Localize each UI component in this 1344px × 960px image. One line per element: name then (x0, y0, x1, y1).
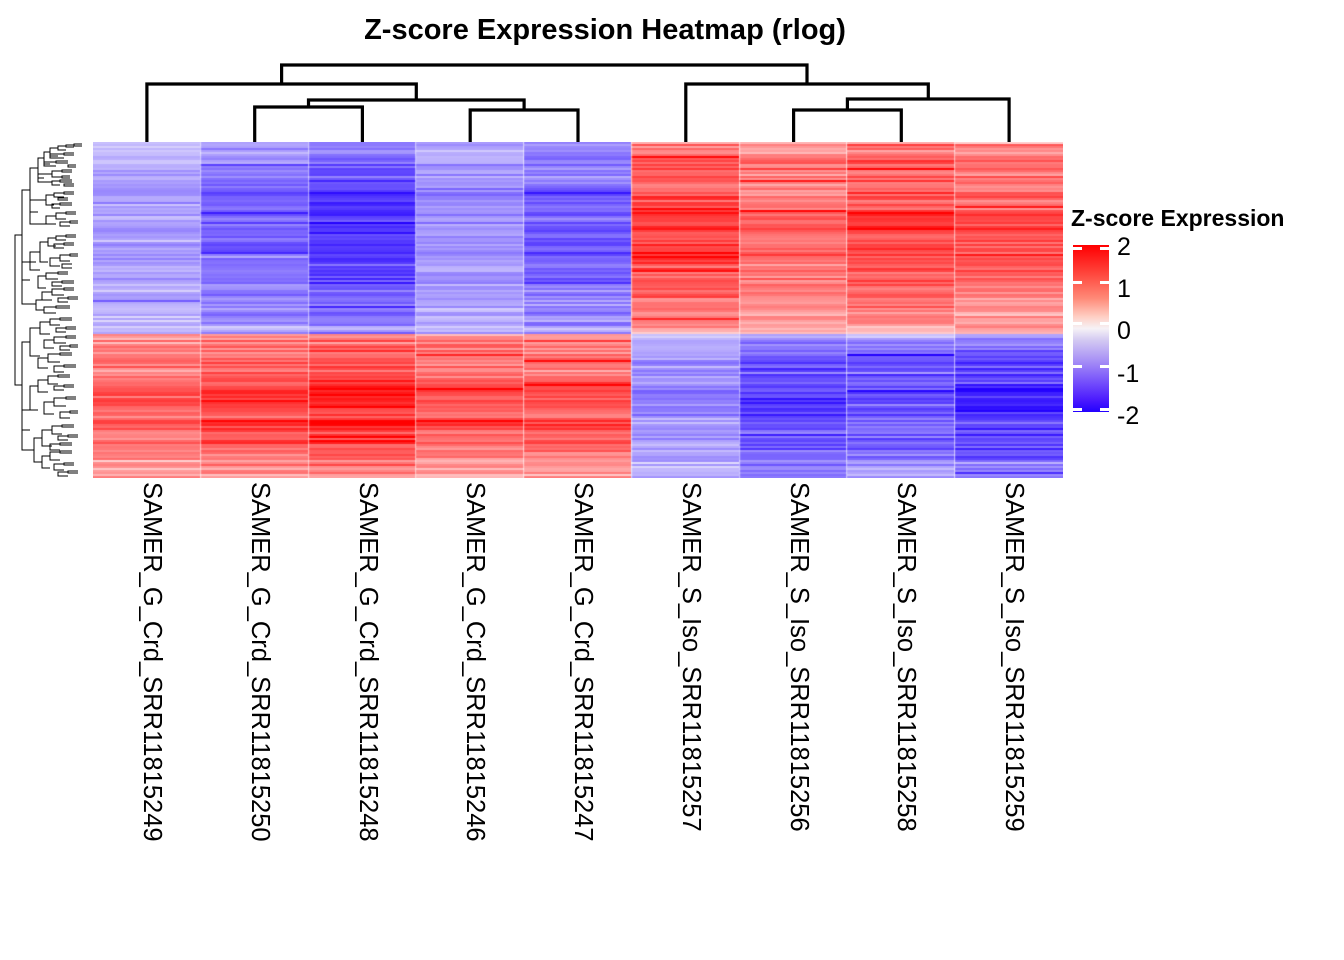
colorbar-tick-mark (1073, 322, 1082, 325)
heatmap-body (93, 142, 1063, 478)
colorbar-gradient (1073, 245, 1109, 412)
column-label-4: SAMER_G_Crd_SRR11815246 (462, 482, 488, 818)
column-label-2: SAMER_G_Crd_SRR11815250 (247, 482, 273, 818)
colorbar-tick-mark (1100, 365, 1109, 368)
row-dendrogram (14, 142, 92, 478)
column-label-7: SAMER_S_Iso_SRR11815256 (786, 482, 812, 818)
colorbar-tick-mark (1073, 408, 1082, 411)
heatmap-canvas (93, 142, 1063, 478)
colorbar-label-m2: -2 (1117, 404, 1139, 429)
colorbar-tick-mark (1073, 281, 1082, 284)
colorbar-tick-mark (1100, 281, 1109, 284)
colorbar-tick-mark (1073, 365, 1082, 368)
heatmap-figure: Z-score Expression Heatmap (rlog) (0, 0, 1344, 960)
colorbar-label-0: 0 (1117, 319, 1131, 344)
colorbar-tick-mark (1100, 408, 1109, 411)
column-label-6: SAMER_S_Iso_SRR11815257 (678, 482, 704, 818)
page-title: Z-score Expression Heatmap (rlog) (0, 14, 1210, 47)
column-label-9: SAMER_S_Iso_SRR11815259 (1001, 482, 1027, 818)
colorbar-tick-mark (1100, 322, 1109, 325)
legend-title: Z-score Expression (1071, 205, 1284, 232)
column-labels: SAMER_G_Crd_SRR11815249 SAMER_G_Crd_SRR1… (93, 482, 1063, 952)
colorbar-tick-mark (1100, 247, 1109, 250)
colorbar-label-2: 2 (1117, 235, 1131, 260)
column-label-5: SAMER_G_Crd_SRR11815247 (570, 482, 596, 818)
colorbar-label-m1: -1 (1117, 362, 1139, 387)
colorbar-legend: Z-score Expression 2 1 0 -1 -2 (1071, 205, 1336, 430)
column-label-8: SAMER_S_Iso_SRR11815258 (893, 482, 919, 818)
column-label-1: SAMER_G_Crd_SRR11815249 (139, 482, 165, 818)
column-label-3: SAMER_G_Crd_SRR11815248 (355, 482, 381, 818)
column-dendrogram (93, 62, 1063, 142)
colorbar-label-1: 1 (1117, 277, 1131, 302)
colorbar-tick-mark (1073, 247, 1082, 250)
